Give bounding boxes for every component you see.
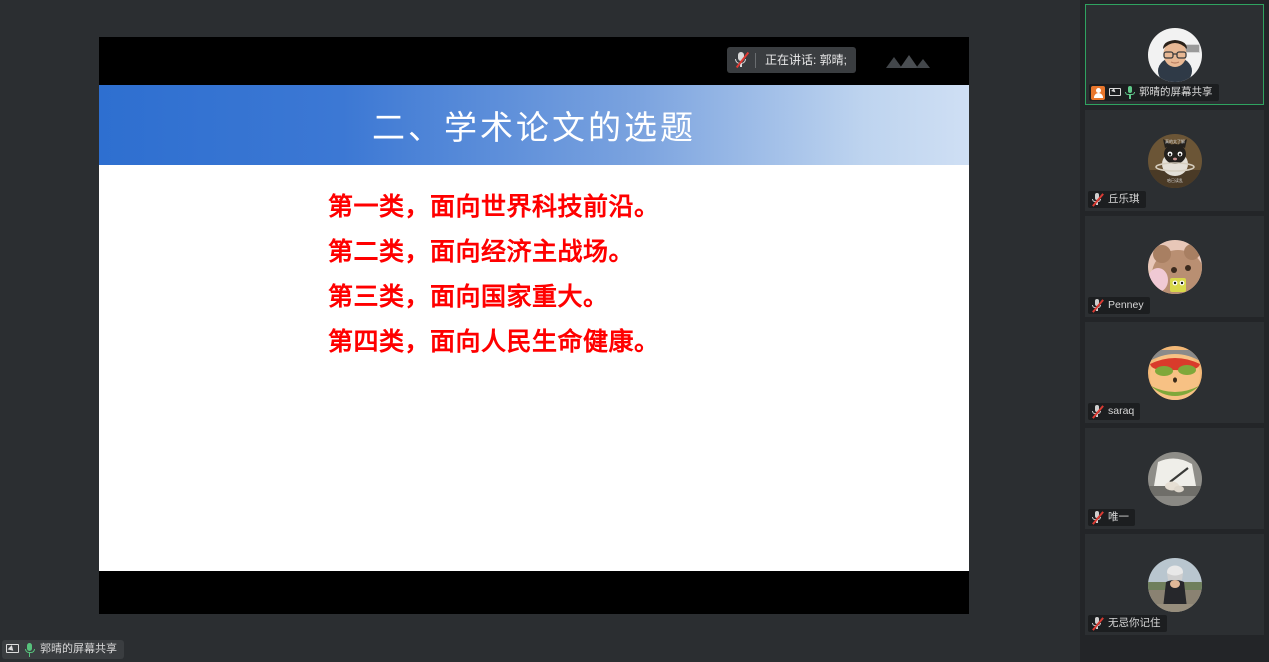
screen-share-stage: 正在讲话: 郭晴; 二、学术论文的选题 第一类，面向世界科技前沿。 第二类，面向… <box>0 0 1080 662</box>
participant-name: saraq <box>1108 406 1134 417</box>
slide-title-band: 二、学术论文的选题 <box>99 85 969 165</box>
mic-muted-icon <box>1091 405 1104 419</box>
mic-muted-icon <box>1091 193 1104 207</box>
slide-bullet: 第三类，面向国家重大。 <box>328 275 969 320</box>
mic-on-icon <box>1125 86 1135 99</box>
mic-muted-icon <box>1091 299 1104 313</box>
participant-namebar: 无忌你记住 <box>1088 615 1167 632</box>
participant-namebar: 郭晴的屏幕共享 <box>1089 84 1219 101</box>
screen-share-status-label: 郭晴的屏幕共享 <box>40 644 117 655</box>
mic-muted-icon <box>1091 617 1104 631</box>
participant-namebar: 丘乐琪 <box>1088 191 1146 208</box>
slide-bullet: 第四类，面向人民生命健康。 <box>328 320 969 365</box>
slide-bullet: 第一类，面向世界科技前沿。 <box>328 185 969 230</box>
participant-namebar: Penney <box>1088 297 1150 314</box>
share-letterbox-top: 正在讲话: 郭晴; <box>99 37 969 85</box>
participant-tile[interactable]: 真的太了解 哈已读乱 丘乐琪 <box>1085 110 1264 211</box>
participant-name: Penney <box>1108 300 1144 311</box>
participant-tile[interactable]: 郭晴的屏幕共享 <box>1085 4 1264 105</box>
mic-muted-icon <box>734 51 748 69</box>
svg-text:哈已读乱: 哈已读乱 <box>1167 177 1183 183</box>
avatar <box>1148 240 1202 294</box>
screen-share-icon <box>6 644 19 655</box>
shared-screen-content[interactable]: 正在讲话: 郭晴; 二、学术论文的选题 第一类，面向世界科技前沿。 第二类，面向… <box>99 37 969 614</box>
presentation-slide: 二、学术论文的选题 第一类，面向世界科技前沿。 第二类，面向经济主战场。 第三类… <box>99 85 969 571</box>
slide-bullet: 第二类，面向经济主战场。 <box>328 230 969 275</box>
mic-muted-icon <box>1091 511 1104 525</box>
avatar <box>1148 452 1202 506</box>
avatar <box>1148 558 1202 612</box>
svg-text:真的太了解: 真的太了解 <box>1165 138 1185 144</box>
pill-divider <box>755 53 756 68</box>
participant-name: 无忌你记住 <box>1108 618 1161 629</box>
screen-share-status-badge[interactable]: 郭晴的屏幕共享 <box>2 640 124 659</box>
participant-name: 唯一 <box>1108 512 1129 523</box>
mic-on-icon <box>24 643 35 657</box>
share-letterbox-bottom <box>99 571 969 614</box>
slide-body: 第一类，面向世界科技前沿。 第二类，面向经济主战场。 第三类，面向国家重大。 第… <box>99 165 969 571</box>
participant-namebar: saraq <box>1088 403 1140 420</box>
slide-title: 二、学术论文的选题 <box>372 101 696 149</box>
active-speaker-indicator: 正在讲话: 郭晴; <box>727 47 856 73</box>
avatar <box>1148 28 1202 82</box>
participant-sidebar[interactable]: 郭晴的屏幕共享 真的太了解 <box>1080 0 1269 662</box>
participant-tile[interactable]: 无忌你记住 <box>1085 534 1264 635</box>
participant-name: 郭晴的屏幕共享 <box>1139 87 1213 98</box>
meeting-app-window: 正在讲话: 郭晴; 二、学术论文的选题 第一类，面向世界科技前沿。 第二类，面向… <box>0 0 1269 662</box>
participant-tile[interactable]: Penney <box>1085 216 1264 317</box>
active-speaker-label: 正在讲话: 郭晴; <box>765 54 847 66</box>
participant-tile[interactable]: saraq <box>1085 322 1264 423</box>
participant-name: 丘乐琪 <box>1108 194 1140 205</box>
avatar: 真的太了解 哈已读乱 <box>1148 134 1202 188</box>
avatar <box>1148 346 1202 400</box>
participant-tile[interactable]: 唯一 <box>1085 428 1264 529</box>
screen-share-icon <box>1109 88 1121 98</box>
participant-namebar: 唯一 <box>1088 509 1135 526</box>
meeting-watermark-logo <box>880 52 932 72</box>
host-badge-icon <box>1091 86 1105 100</box>
